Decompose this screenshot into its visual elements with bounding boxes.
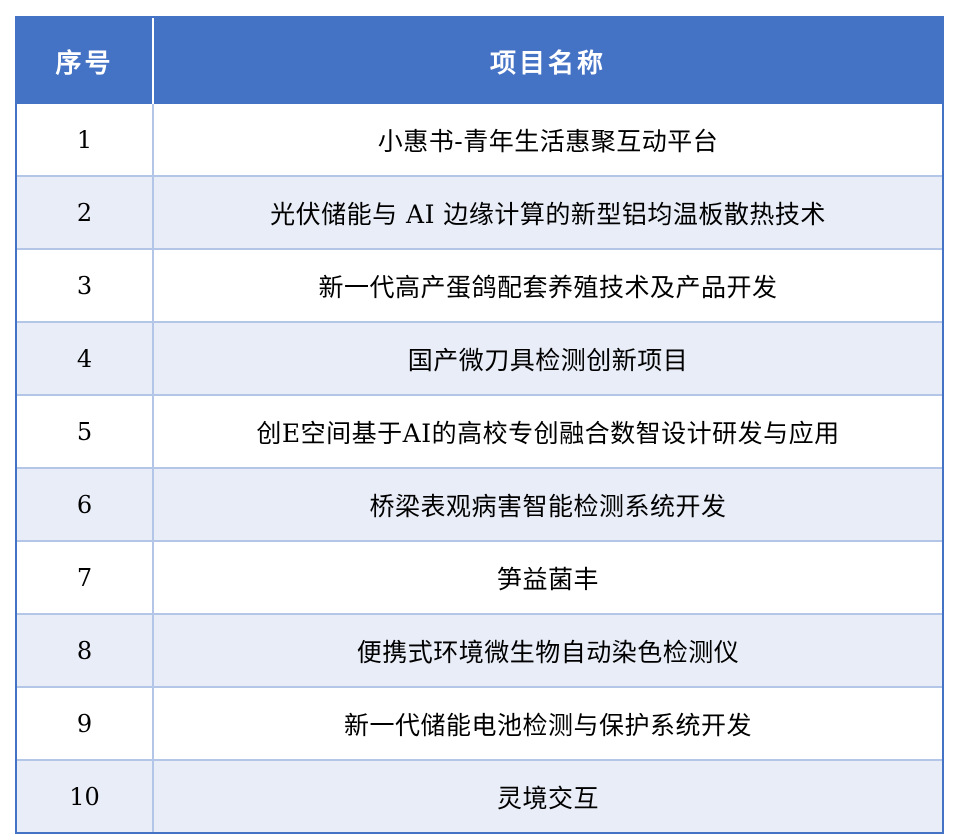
cell-project-name: 新一代高产蛋鸽配套养殖技术及产品开发 xyxy=(153,249,942,322)
column-header-no: 序号 xyxy=(17,18,153,104)
cell-row-number: 1 xyxy=(17,104,153,176)
cell-project-name: 创E空间基于AI的高校专创融合数智设计研发与应用 xyxy=(153,395,942,468)
table-row: 5创E空间基于AI的高校专创融合数智设计研发与应用 xyxy=(17,395,942,468)
table-header: 序号 项目名称 xyxy=(17,18,942,104)
cell-project-name: 小惠书-青年生活惠聚互动平台 xyxy=(153,104,942,176)
cell-project-name: 国产微刀具检测创新项目 xyxy=(153,322,942,395)
table-row: 2光伏储能与 AI 边缘计算的新型铝均温板散热技术 xyxy=(17,176,942,249)
table-row: 6桥梁表观病害智能检测系统开发 xyxy=(17,468,942,541)
project-table: 序号 项目名称 1小惠书-青年生活惠聚互动平台2光伏储能与 AI 边缘计算的新型… xyxy=(17,18,942,832)
cell-project-name: 便携式环境微生物自动染色检测仪 xyxy=(153,614,942,687)
cell-project-name: 光伏储能与 AI 边缘计算的新型铝均温板散热技术 xyxy=(153,176,942,249)
table-body: 1小惠书-青年生活惠聚互动平台2光伏储能与 AI 边缘计算的新型铝均温板散热技术… xyxy=(17,104,942,832)
cell-row-number: 3 xyxy=(17,249,153,322)
cell-row-number: 9 xyxy=(17,687,153,760)
cell-row-number: 7 xyxy=(17,541,153,614)
table-header-row: 序号 项目名称 xyxy=(17,18,942,104)
column-header-name: 项目名称 xyxy=(153,18,942,104)
table-row: 8便携式环境微生物自动染色检测仪 xyxy=(17,614,942,687)
table-row: 9新一代储能电池检测与保护系统开发 xyxy=(17,687,942,760)
cell-project-name: 新一代储能电池检测与保护系统开发 xyxy=(153,687,942,760)
cell-row-number: 6 xyxy=(17,468,153,541)
cell-project-name: 笋益菌丰 xyxy=(153,541,942,614)
cell-row-number: 8 xyxy=(17,614,153,687)
project-table-container: 序号 项目名称 1小惠书-青年生活惠聚互动平台2光伏储能与 AI 边缘计算的新型… xyxy=(15,16,944,834)
table-row: 4国产微刀具检测创新项目 xyxy=(17,322,942,395)
cell-row-number: 5 xyxy=(17,395,153,468)
page-root: 序号 项目名称 1小惠书-青年生活惠聚互动平台2光伏储能与 AI 边缘计算的新型… xyxy=(0,0,958,840)
table-row: 10灵境交互 xyxy=(17,760,942,832)
cell-row-number: 2 xyxy=(17,176,153,249)
cell-row-number: 4 xyxy=(17,322,153,395)
table-row: 1小惠书-青年生活惠聚互动平台 xyxy=(17,104,942,176)
cell-row-number: 10 xyxy=(17,760,153,832)
cell-project-name: 灵境交互 xyxy=(153,760,942,832)
table-row: 3新一代高产蛋鸽配套养殖技术及产品开发 xyxy=(17,249,942,322)
cell-project-name: 桥梁表观病害智能检测系统开发 xyxy=(153,468,942,541)
table-row: 7笋益菌丰 xyxy=(17,541,942,614)
